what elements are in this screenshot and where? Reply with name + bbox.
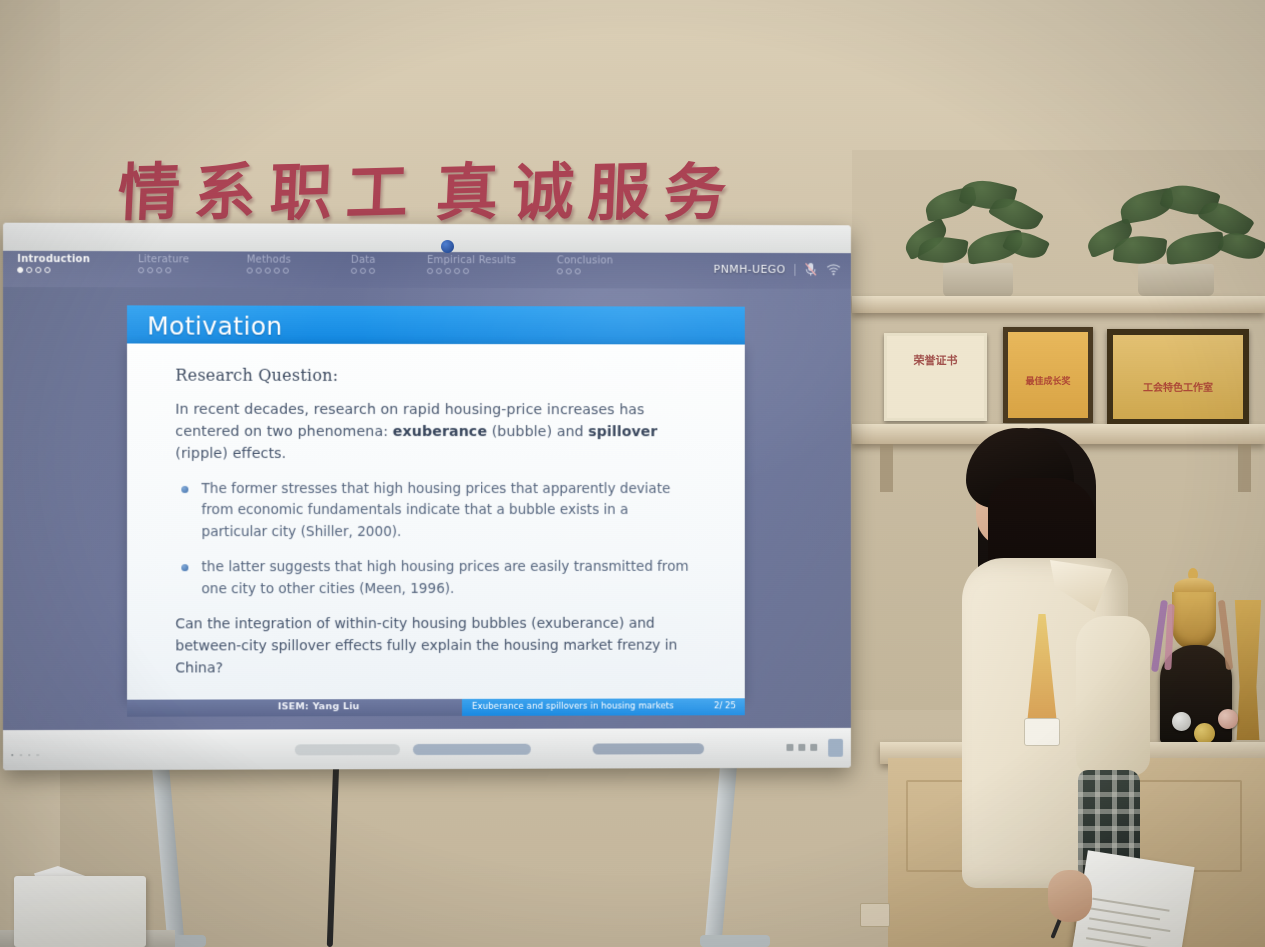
nav-dot xyxy=(575,268,581,274)
nav-dot xyxy=(44,267,50,273)
status-separator xyxy=(794,263,795,275)
nav-dot xyxy=(17,267,23,273)
nav-dot xyxy=(566,268,572,274)
device-status-bar: PNMH-UEGO xyxy=(714,262,841,277)
nav-label: Introduction xyxy=(17,254,90,265)
presenter xyxy=(900,418,1168,947)
nav-section-methods[interactable]: Methods xyxy=(247,255,291,274)
nav-dot xyxy=(35,267,41,273)
nav-dot xyxy=(463,268,469,274)
stand-leg-left xyxy=(152,768,185,947)
intro-mid: (bubble) and xyxy=(487,424,588,440)
nav-label: Conclusion xyxy=(557,255,613,266)
medal xyxy=(1172,712,1191,731)
footer-title-block: Exuberance and spillovers in housing mar… xyxy=(462,698,745,716)
footer-title: Exuberance and spillovers in housing mar… xyxy=(472,701,674,711)
nav-label: Literature xyxy=(138,254,189,265)
display-bezel-top xyxy=(3,223,851,253)
intro-post: (ripple) effects. xyxy=(175,446,286,462)
bezel-vent xyxy=(593,743,704,754)
shelf-bracket xyxy=(1238,444,1251,492)
beamer-navigation-bar: Introduction Literature xyxy=(3,251,851,289)
power-cable xyxy=(327,762,339,947)
footer-page-number: 2/ 25 xyxy=(714,701,736,711)
bezel-sensor xyxy=(828,739,843,757)
display-camera-indicator xyxy=(441,240,454,253)
bezel-buttons[interactable] xyxy=(786,744,817,751)
nav-dot xyxy=(369,268,375,274)
nav-section-data[interactable]: Data xyxy=(351,255,376,274)
nav-section-conclusion[interactable]: Conclusion xyxy=(557,255,613,274)
calligraphy-char: 诚 xyxy=(511,161,576,225)
nav-dot xyxy=(557,268,563,274)
smartboard-display: Introduction Literature xyxy=(3,223,851,771)
nav-dot xyxy=(351,268,357,274)
bezel-button[interactable] xyxy=(786,744,793,751)
nav-section-literature[interactable]: Literature xyxy=(138,254,189,273)
bullet-item: The former stresses that high housing pr… xyxy=(175,479,697,544)
nav-dot xyxy=(265,268,271,274)
nav-dot xyxy=(147,267,153,273)
bezel-logo: ▪ ▫ ▫ ▫ xyxy=(11,752,41,759)
nav-label: Methods xyxy=(247,255,291,266)
calligraphy-char: 工 xyxy=(345,161,410,225)
trophy-cup xyxy=(1172,592,1216,650)
tissue-box xyxy=(14,876,146,947)
slide-title-banner: Motivation xyxy=(127,305,745,344)
medal xyxy=(1218,709,1238,729)
certificate-white: 荣誉证书 xyxy=(884,333,987,421)
footer-author: ISEM: Yang Liu xyxy=(278,701,360,712)
nav-sections: Introduction Literature xyxy=(17,254,718,290)
nav-dot xyxy=(436,268,442,274)
closing-paragraph: Can the integration of within-city housi… xyxy=(175,614,697,680)
plaque-gold-2: 工会特色工作室 xyxy=(1107,329,1249,425)
nav-progress-dots xyxy=(351,268,376,274)
bezel-vent xyxy=(413,744,531,755)
bezel-vent xyxy=(295,744,400,755)
nav-dot xyxy=(165,267,171,273)
stand-foot-right xyxy=(700,935,770,947)
calligraphy-char: 职 xyxy=(269,161,334,225)
calligraphy-char: 真 xyxy=(435,161,500,225)
nav-label: Data xyxy=(351,255,376,266)
slide-title: Motivation xyxy=(147,311,282,340)
potted-plant-right xyxy=(1080,178,1265,298)
medal xyxy=(1194,723,1215,744)
nav-dot xyxy=(274,268,280,274)
nav-progress-dots xyxy=(557,268,613,274)
display-screen[interactable]: Introduction Literature xyxy=(3,251,851,730)
nav-dot xyxy=(283,268,289,274)
nav-dot xyxy=(454,268,460,274)
bullet-list: The former stresses that high housing pr… xyxy=(175,479,697,601)
bullet-item: the latter suggests that high housing pr… xyxy=(175,557,697,600)
stand-leg-right xyxy=(704,768,737,947)
nav-dot xyxy=(256,268,262,274)
intro-paragraph: In recent decades, research on rapid hou… xyxy=(175,399,697,465)
device-name-label: PNMH-UEGO xyxy=(714,263,786,276)
intro-bold-spillover: spillover xyxy=(588,424,657,440)
slide-footer: ISEM: Yang Liu Exuberance and spillovers… xyxy=(127,698,745,716)
microphone-muted-icon[interactable] xyxy=(804,262,817,277)
nav-progress-dots xyxy=(138,267,189,273)
calligraphy-char: 情 xyxy=(117,161,182,225)
plaque-gold-1: 最佳成长奖 xyxy=(1003,327,1093,423)
nav-dot xyxy=(360,268,366,274)
slide-content-card: Research Question: In recent decades, re… xyxy=(127,343,745,699)
shelf-bracket xyxy=(880,444,893,492)
nav-dot xyxy=(26,267,32,273)
nav-dot xyxy=(445,268,451,274)
wall-socket xyxy=(860,903,890,927)
nav-label: Empirical Results xyxy=(427,255,516,266)
presenter-sleeve xyxy=(1076,616,1150,776)
presentation-room-photo: 情 系 职 工 真 诚 服 务 荣誉证书 最佳成长奖 xyxy=(0,0,1265,947)
nav-progress-dots xyxy=(17,267,90,273)
calligraphy-char: 务 xyxy=(663,161,728,225)
potted-plant-left xyxy=(895,175,1065,297)
nav-section-empirical-results[interactable]: Empirical Results xyxy=(427,255,516,274)
presenter-badge xyxy=(1024,718,1060,746)
bezel-button[interactable] xyxy=(810,744,817,751)
nav-dot xyxy=(247,268,253,274)
calligraphy-char: 系 xyxy=(193,161,258,225)
shelf-board-top xyxy=(852,296,1265,313)
calligraphy-char: 服 xyxy=(587,161,652,225)
presenter-hand xyxy=(1048,870,1092,922)
bezel-button[interactable] xyxy=(798,744,805,751)
wifi-icon[interactable] xyxy=(826,263,841,276)
nav-progress-dots xyxy=(427,268,516,274)
slide-inner: Research Question: In recent decades, re… xyxy=(175,366,697,680)
research-question-heading: Research Question: xyxy=(175,366,697,386)
nav-dot xyxy=(138,267,144,273)
nav-progress-dots xyxy=(247,268,291,274)
nav-dot xyxy=(156,267,162,273)
nav-section-introduction[interactable]: Introduction xyxy=(17,254,90,273)
nav-dot xyxy=(427,268,433,274)
intro-bold-exuberance: exuberance xyxy=(393,424,487,440)
